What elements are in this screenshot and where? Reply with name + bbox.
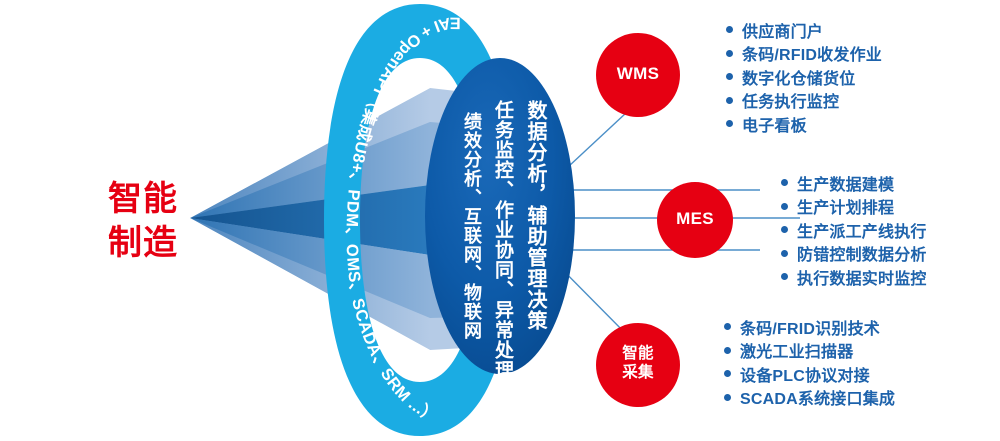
bullet-dot-icon bbox=[724, 394, 731, 401]
page-title: 智能 制造 bbox=[58, 178, 228, 265]
bullet-dot-icon bbox=[781, 273, 788, 280]
bullet-dot-icon bbox=[724, 347, 731, 354]
bullet-item: 生产计划排程 bbox=[781, 195, 927, 219]
node-label-mes[interactable]: MES bbox=[655, 209, 735, 230]
bullet-item: 电子看板 bbox=[726, 112, 882, 136]
bullet-dot-icon bbox=[781, 226, 788, 233]
bullet-item: 防错控制数据分析 bbox=[781, 242, 927, 266]
bullet-list-mes: 生产数据建模生产计划排程生产派工产线执行防错控制数据分析执行数据实时监控 bbox=[781, 171, 927, 289]
bullet-label: 任务执行监控 bbox=[742, 88, 839, 112]
bullet-item: 设备PLC协议对接 bbox=[724, 362, 895, 386]
bullet-label: 设备PLC协议对接 bbox=[740, 362, 870, 386]
node-label-wms[interactable]: WMS bbox=[598, 64, 678, 85]
diagram-canvas: EAI + OpenAPI（集成U8+、PDM、OMS、SCADA、SRM ..… bbox=[0, 0, 1000, 441]
bullet-label: 供应商门户 bbox=[742, 18, 823, 42]
bullet-label: 电子看板 bbox=[742, 112, 807, 136]
bullet-dot-icon bbox=[726, 73, 733, 80]
bullet-label: 生产派工产线执行 bbox=[797, 218, 927, 242]
bullet-label: 生产数据建模 bbox=[797, 171, 894, 195]
node-label-collect[interactable]: 智能 采集 bbox=[598, 345, 678, 383]
bullet-item: 生产数据建模 bbox=[781, 171, 927, 195]
bullet-item: SCADA系统接口集成 bbox=[724, 386, 895, 410]
bullet-dot-icon bbox=[724, 370, 731, 377]
bullet-item: 供应商门户 bbox=[726, 18, 882, 42]
bullet-dot-icon bbox=[781, 250, 788, 257]
bullet-dot-icon bbox=[726, 50, 733, 57]
core-column-3: 绩效分析、互联网、物联网 bbox=[459, 112, 485, 342]
bullet-label: 执行数据实时监控 bbox=[797, 265, 927, 289]
bullet-label: 条码/FRID识别技术 bbox=[740, 315, 880, 339]
bullet-dot-icon bbox=[726, 120, 733, 127]
bullet-label: 防错控制数据分析 bbox=[797, 241, 927, 265]
bullet-label: 数字化仓储货位 bbox=[742, 65, 855, 89]
bullet-label: 生产计划排程 bbox=[797, 194, 894, 218]
bullet-list-collect: 条码/FRID识别技术激光工业扫描器设备PLC协议对接SCADA系统接口集成 bbox=[724, 315, 895, 409]
bullet-item: 执行数据实时监控 bbox=[781, 265, 927, 289]
bullet-item: 条码/FRID识别技术 bbox=[724, 315, 895, 339]
bullet-dot-icon bbox=[726, 26, 733, 33]
bullet-item: 任务执行监控 bbox=[726, 89, 882, 113]
bullet-dot-icon bbox=[781, 203, 788, 210]
bullet-dot-icon bbox=[724, 323, 731, 330]
core-column-2: 任务监控、作业协同、异常处理 bbox=[489, 100, 516, 375]
bullet-list-wms: 供应商门户条码/RFID收发作业数字化仓储货位任务执行监控电子看板 bbox=[726, 18, 882, 136]
bullet-item: 条码/RFID收发作业 bbox=[726, 42, 882, 66]
bullet-dot-icon bbox=[726, 97, 733, 104]
bullet-label: 激光工业扫描器 bbox=[740, 338, 853, 362]
bullet-label: 条码/RFID收发作业 bbox=[742, 41, 882, 65]
bullet-item: 激光工业扫描器 bbox=[724, 339, 895, 363]
bullet-item: 生产派工产线执行 bbox=[781, 218, 927, 242]
core-column-1: 数据分析，辅助管理决策 bbox=[521, 100, 550, 350]
bullet-item: 数字化仓储货位 bbox=[726, 65, 882, 89]
bullet-label: SCADA系统接口集成 bbox=[740, 385, 895, 409]
bullet-dot-icon bbox=[781, 179, 788, 186]
